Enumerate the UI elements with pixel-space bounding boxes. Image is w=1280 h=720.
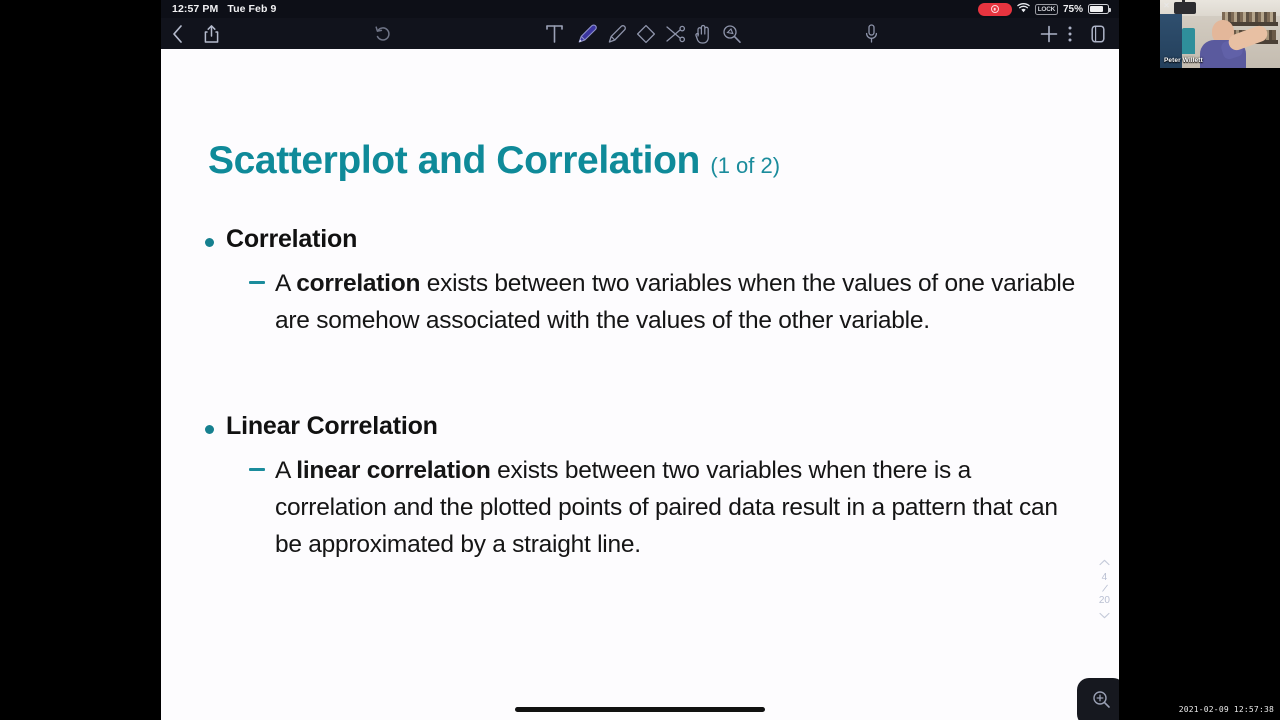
chevron-down-icon[interactable] [1099,612,1110,620]
section-sub-text: A correlation exists between two variabl… [275,265,1085,339]
slide-section-correlation: Correlation A correlation exists between… [205,225,1085,339]
screen-root: 12:57 PM Tue Feb 9 LOCK 75% [0,0,1280,720]
zoom-in-button[interactable] [1077,678,1119,720]
status-bar-right: LOCK 75% [978,3,1109,16]
webcam-shelf-items [1222,12,1276,22]
webcam-thumbnail[interactable]: ✕ Peter Willett [1160,0,1280,68]
bullet-dash-icon [249,281,265,284]
chevron-up-icon[interactable] [1099,559,1110,567]
home-indicator [515,707,765,712]
webcam-object [1182,28,1195,54]
status-date: Tue Feb 9 [227,3,276,15]
record-indicator[interactable] [978,3,1012,16]
magnifier-shape-icon[interactable] [720,23,744,45]
scissors-icon[interactable] [663,23,687,45]
wifi-icon [1017,3,1030,16]
status-bar-left: 12:57 PM Tue Feb 9 [172,3,276,15]
recording-timestamp: 2021-02-09 12:57:38 [1179,705,1274,714]
battery-percent: 75% [1063,4,1083,15]
participant-name: Peter Willett [1164,57,1203,64]
bullet-dot-icon [205,425,214,434]
section-heading: Correlation [226,225,357,254]
page-panel-icon[interactable] [1090,24,1106,44]
page-fraction: 4 / 20 [1099,573,1110,606]
undo-button[interactable] [374,25,392,43]
text-tool-icon[interactable] [545,23,564,45]
section-sub-item: A linear correlation exists between two … [249,452,1085,564]
lock-badge-icon: LOCK [1035,4,1058,15]
slide-section-linear-correlation: Linear Correlation A linear correlation … [205,412,1085,564]
highlighter-icon[interactable] [604,23,628,45]
eraser-icon[interactable] [635,23,657,45]
status-bar: 12:57 PM Tue Feb 9 LOCK 75% [161,0,1119,18]
battery-icon [1088,4,1109,15]
section-heading-row: Correlation [205,225,1085,254]
slide-canvas[interactable]: Scatterplot and Correlation (1 of 2) Cor… [161,49,1119,720]
section-sub-item: A correlation exists between two variabl… [249,265,1085,339]
slide-title-main: Scatterplot and Correlation [208,139,700,182]
current-page-number: 4 [1102,573,1108,583]
status-time: 12:57 PM [172,3,218,15]
back-button[interactable] [171,24,184,44]
hand-icon[interactable] [692,23,714,45]
webcam-projector [1174,2,1196,14]
section-heading: Linear Correlation [226,412,438,441]
share-button[interactable] [203,24,220,44]
total-page-number: 20 [1099,596,1110,606]
microphone-icon[interactable] [864,23,879,45]
page-slash: / [1101,584,1108,595]
section-sub-text: A linear correlation exists between two … [275,452,1085,564]
ipad-window: 12:57 PM Tue Feb 9 LOCK 75% [161,0,1119,720]
zoom-in-icon [1092,690,1111,714]
page-navigator[interactable]: 4 / 20 [1099,559,1110,620]
app-toolbar [161,18,1119,49]
section-heading-row: Linear Correlation [205,412,1085,441]
pen-icon[interactable] [574,23,598,45]
plus-icon[interactable] [1039,24,1059,44]
slide-title-suffix: (1 of 2) [710,153,780,178]
bullet-dot-icon [205,238,214,247]
bullet-dash-icon [249,468,265,471]
more-vertical-icon[interactable] [1067,24,1073,44]
slide-title: Scatterplot and Correlation (1 of 2) [208,139,780,183]
close-icon[interactable]: ✕ [1163,2,1170,9]
